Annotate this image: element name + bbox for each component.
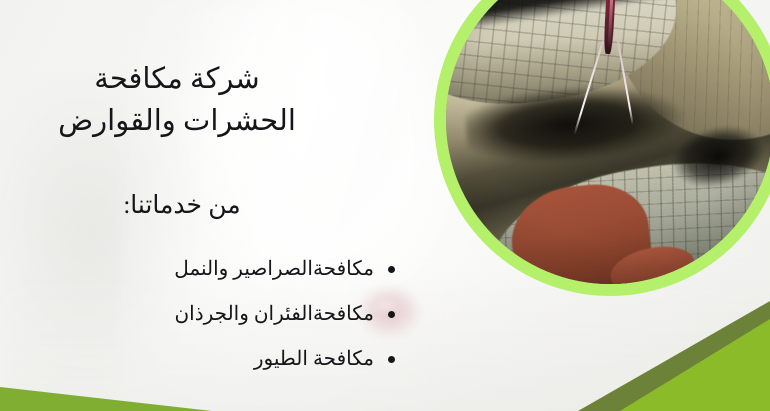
bullet-dot-icon xyxy=(388,356,395,363)
services-list: مكافحةالصراصير والنمل مكافحةالفئران والج… xyxy=(55,246,395,381)
text-content-column: شركة مكافحة الحشرات والقوارض من خدماتنا:… xyxy=(0,0,440,411)
services-heading: من خدماتنا: xyxy=(42,190,322,223)
list-item: مكافحة الطيور xyxy=(55,336,395,381)
list-item: مكافحةالصراصير والنمل xyxy=(55,246,395,291)
bullet-dot-icon xyxy=(388,266,395,273)
promo-banner: شركة مكافحة الحشرات والقوارض من خدماتنا:… xyxy=(0,0,770,411)
page-title: شركة مكافحة الحشرات والقوارض xyxy=(22,59,332,141)
list-item: مكافحةالفئران والجرذان xyxy=(55,291,395,336)
list-item-label: مكافحة الطيور xyxy=(254,349,374,369)
snake-photo xyxy=(446,0,770,284)
snake-photo-circle xyxy=(434,0,770,296)
title-line-2: الحشرات والقوارض xyxy=(22,101,332,142)
list-item-label: مكافحةالصراصير والنمل xyxy=(174,259,374,279)
bullet-dot-icon xyxy=(388,311,395,318)
list-item-label: مكافحةالفئران والجرذان xyxy=(174,304,374,324)
title-line-1: شركة مكافحة xyxy=(22,59,332,100)
